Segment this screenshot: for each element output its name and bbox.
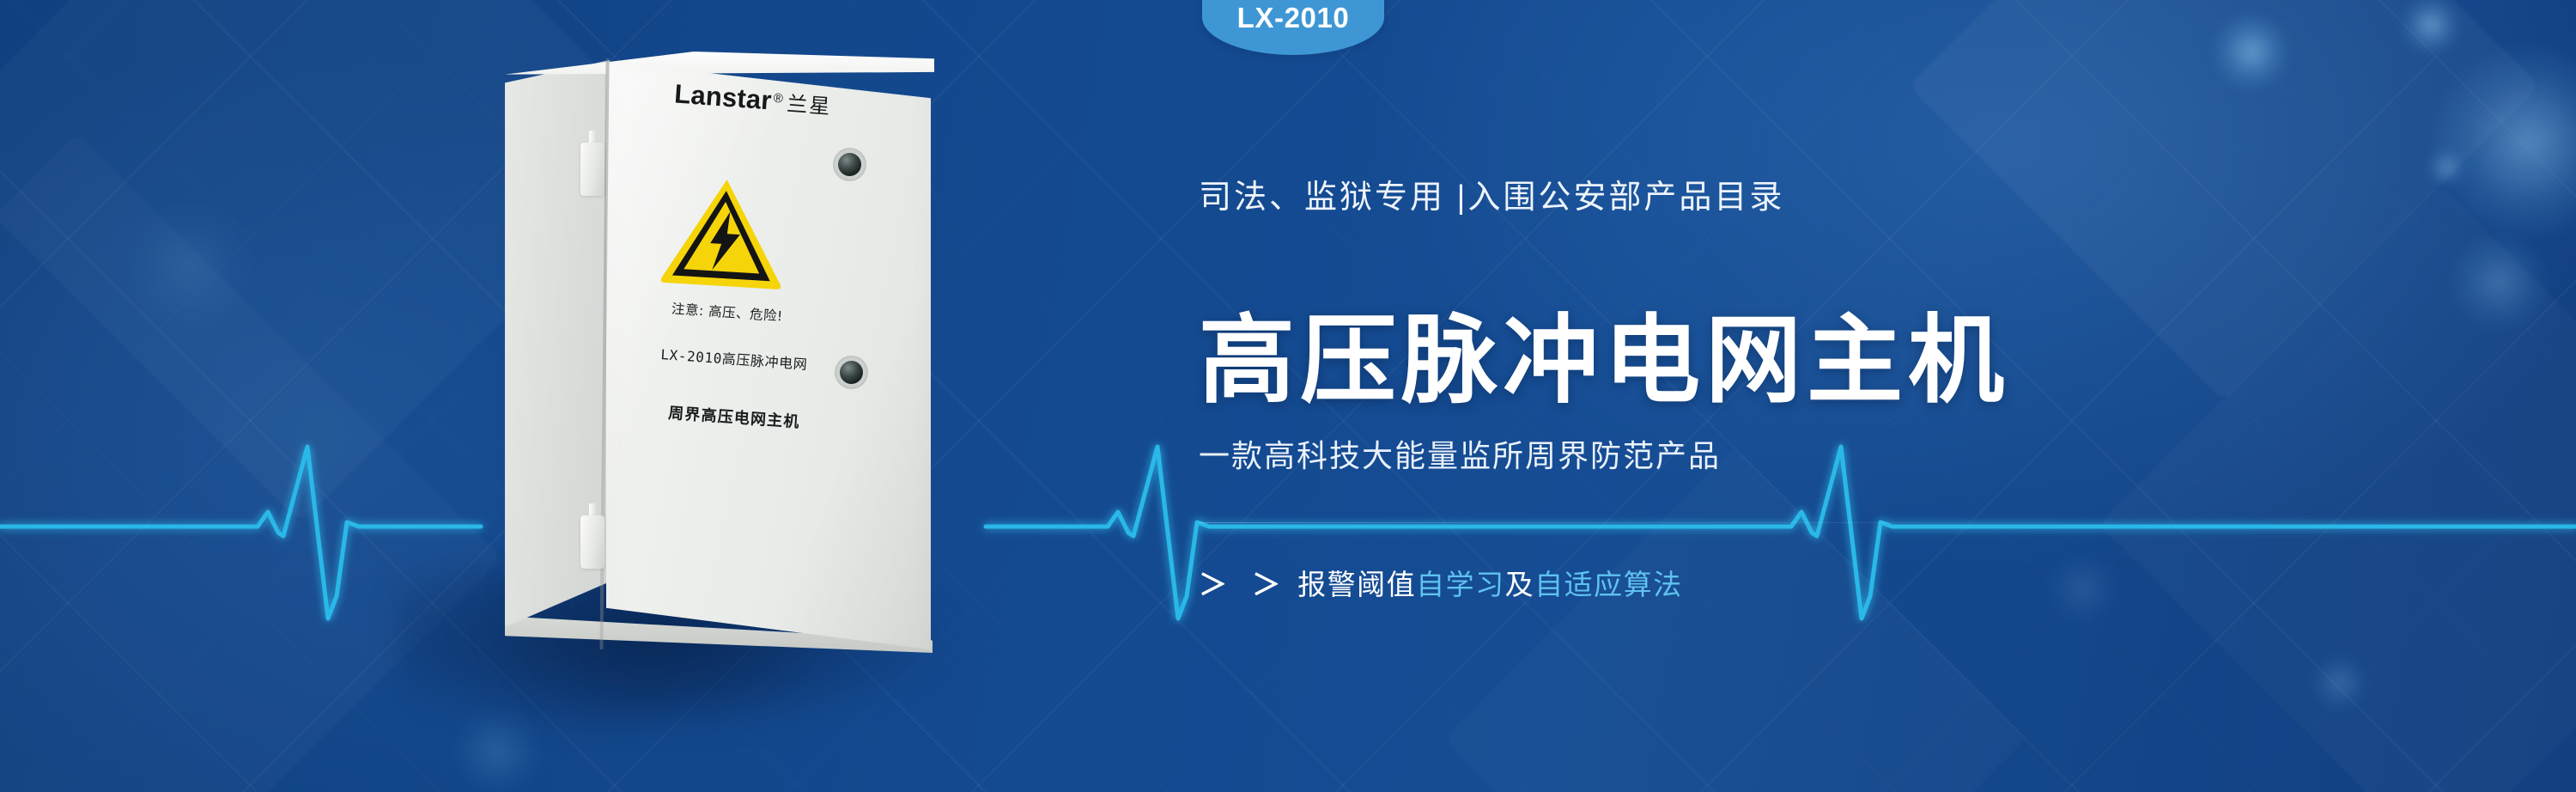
- banner-tagline: 一款高科技大能量监所周界防范产品: [1199, 431, 1721, 476]
- bokeh-orb: [120, 198, 258, 335]
- product-image-high-voltage-controller: Lanstar ® 兰星 注意: 高压、危险! LX-2010高压脉冲电网 周界…: [369, 52, 987, 730]
- copy-divider: [1199, 522, 2212, 523]
- model-badge-label: LX-2010: [1237, 2, 1350, 38]
- brand-name-cn: 兰星: [786, 87, 832, 120]
- door-hinge-top: [580, 143, 605, 196]
- high-voltage-warning-icon: [658, 173, 789, 291]
- feature-highlight-line: ＞ ＞ 报警阈值 自学习 及 自适应算法: [1199, 562, 1683, 603]
- feature-text-part-4: 自适应算法: [1534, 562, 1683, 603]
- registered-trademark-icon: ®: [773, 91, 783, 107]
- banner-subtitle: 司法、监狱专用 |入围公安部产品目录: [1199, 170, 1784, 217]
- model-badge: LX-2010: [1202, 0, 1384, 55]
- chevron-right-icon: ＞ ＞: [1199, 562, 1289, 603]
- banner-headline: 高压脉冲电网主机: [1199, 310, 2009, 411]
- feature-text-part-1: 报警阈值: [1297, 562, 1416, 603]
- indicator-lamp-icon: [838, 153, 861, 176]
- indicator-lamp-icon: [840, 361, 863, 384]
- feature-text-part-3: 及: [1505, 562, 1535, 603]
- door-hinge-bottom: [580, 515, 605, 569]
- banner-copy-column: LX-2010 司法、监狱专用 |入围公安部产品目录 高压脉冲电网主机 一款高科…: [1199, 0, 2504, 792]
- product-hero-banner: Lanstar ® 兰星 注意: 高压、危险! LX-2010高压脉冲电网 周界…: [0, 0, 2576, 792]
- feature-text-part-2: 自学习: [1416, 562, 1505, 603]
